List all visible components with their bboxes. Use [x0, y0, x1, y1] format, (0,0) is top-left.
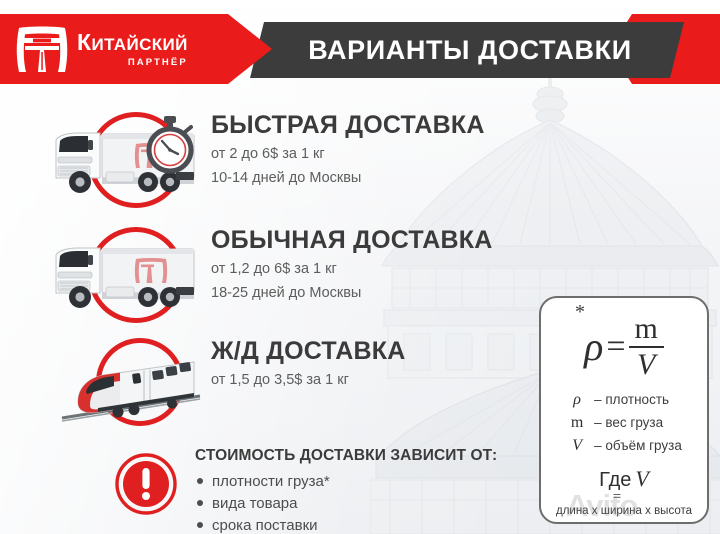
brand-name: КИТАЙСКИЙ — [77, 31, 188, 54]
where-equals: = — [613, 493, 621, 502]
delivery-option-title: БЫСТРАЯ ДОСТАВКА — [211, 112, 485, 138]
delivery-option-title: ОБЫЧНАЯ ДОСТАВКА — [211, 227, 492, 253]
truck-icon — [36, 223, 211, 323]
list-item: срока поставки — [195, 515, 497, 534]
delivery-option-title: Ж/Д ДОСТАВКА — [211, 338, 406, 364]
volume-definition-head: Где V — [599, 466, 649, 492]
legend-symbol: V — [566, 434, 588, 457]
stopwatch-icon — [142, 112, 198, 174]
where-expression: длина х ширина х высота — [556, 505, 692, 517]
formula-rho: ρ — [584, 327, 603, 367]
poster-header: ВАРИАНТЫ ДОСТАВКИ — [0, 0, 720, 94]
exclamation-icon — [115, 453, 177, 515]
delivery-option-rail-text: Ж/Д ДОСТАВКА от 1,5 до 3,5$ за 1 кг — [211, 334, 406, 392]
delivery-option-term: 18-25 дней до Москвы — [211, 282, 492, 304]
formula-legend: ρ – плотность m – вес груза V – объём гр… — [566, 388, 682, 458]
formula-denominator: V — [631, 350, 661, 380]
where-symbol: V — [635, 466, 648, 492]
legend-symbol: m — [566, 411, 588, 434]
legend-row-rho: ρ – плотность — [566, 388, 682, 411]
brand-subtitle: ПАРТНЁР — [77, 58, 188, 68]
header-title-banner: ВАРИАНТЫ ДОСТАВКИ — [250, 22, 684, 78]
delivery-option-normal-text: ОБЫЧНАЯ ДОСТАВКА от 1,2 до 6$ за 1 кг 18… — [211, 223, 492, 304]
density-formula: ρ = m V — [584, 314, 664, 380]
legend-text: – объём груза — [594, 436, 682, 456]
delivery-option-fast: БЫСТРАЯ ДОСТАВКА от 2 до 6$ за 1 кг 10-1… — [36, 108, 485, 208]
delivery-option-normal: ОБЫЧНАЯ ДОСТАВКА от 1,2 до 6$ за 1 кг 18… — [36, 223, 492, 323]
chinese-gate-icon — [16, 24, 68, 74]
volume-definition: Где V = длина х ширина х высота — [556, 466, 692, 517]
delivery-option-price: от 2 до 6$ за 1 кг — [211, 143, 485, 165]
list-item: вида товара — [195, 493, 497, 515]
list-item: плотности груза* — [195, 471, 497, 493]
delivery-option-price: от 1,2 до 6$ за 1 кг — [211, 258, 492, 280]
density-formula-card: * ρ = m V ρ – плотность m – вес груза V … — [539, 296, 709, 524]
cost-factors-note: СТОИМОСТЬ ДОСТАВКИ ЗАВИСИТ ОТ: плотности… — [115, 443, 535, 534]
delivery-option-term: 10-14 дней до Москвы — [211, 167, 485, 189]
train-icon — [36, 334, 211, 434]
delivery-option-price: от 1,5 до 3,5$ за 1 кг — [211, 369, 406, 391]
cost-factors-title: СТОИМОСТЬ ДОСТАВКИ ЗАВИСИТ ОТ: — [195, 447, 497, 465]
formula-numerator: m — [629, 314, 664, 344]
legend-symbol: ρ — [566, 388, 588, 411]
legend-row-m: m – вес груза — [566, 411, 682, 434]
formula-equals: = — [606, 330, 625, 364]
legend-row-v: V – объём груза — [566, 434, 682, 457]
truck-illustration — [44, 239, 204, 317]
brand-logo[interactable]: КИТАЙСКИЙ ПАРТНЁР — [16, 22, 226, 76]
brand-logo-text: КИТАЙСКИЙ ПАРТНЁР — [77, 31, 188, 68]
legend-text: – плотность — [594, 390, 669, 410]
brand-name-rest: ИТАЙСКИЙ — [91, 35, 187, 54]
cost-factors-list: плотности груза* вида товара срока поста… — [195, 471, 497, 534]
train-illustration — [54, 350, 204, 426]
delivery-option-fast-text: БЫСТРАЯ ДОСТАВКА от 2 до 6$ за 1 кг 10-1… — [211, 108, 485, 189]
page-title: ВАРИАНТЫ ДОСТАВКИ — [302, 35, 631, 66]
delivery-options-poster: ВАРИАНТЫ ДОСТАВКИ — [0, 0, 720, 534]
formula-fraction: m V — [629, 314, 664, 380]
legend-text: – вес груза — [594, 413, 663, 433]
cost-factors-body: СТОИМОСТЬ ДОСТАВКИ ЗАВИСИТ ОТ: плотности… — [195, 443, 497, 534]
delivery-option-rail: Ж/Д ДОСТАВКА от 1,5 до 3,5$ за 1 кг — [36, 334, 406, 434]
